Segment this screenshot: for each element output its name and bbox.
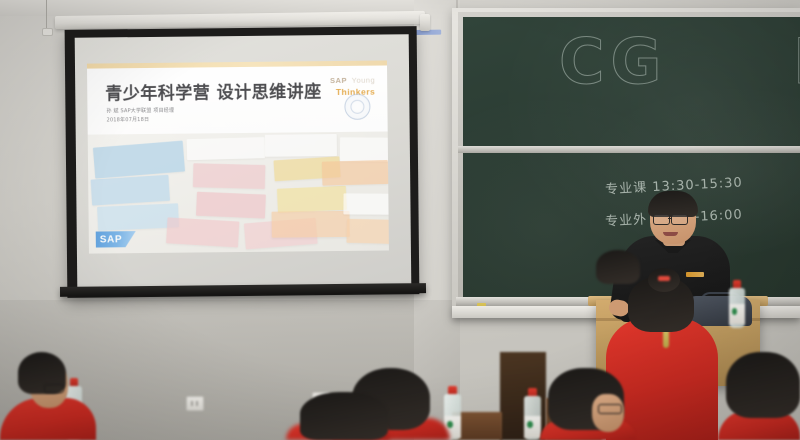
sticky-note bbox=[322, 159, 389, 185]
projector-screen: 青少年科学营 设计思维讲座 孙 斌 SAP大学联盟 项目经理 2018年07月1… bbox=[65, 26, 420, 298]
sap-logo-text: SAP bbox=[100, 234, 122, 245]
blackboard-partial-letter: L bbox=[793, 31, 800, 93]
student-glasses bbox=[598, 404, 622, 414]
sticky-note bbox=[187, 137, 266, 161]
bottle-label bbox=[524, 416, 541, 438]
blackboard-big-letters: CG bbox=[559, 31, 667, 93]
sticky-note bbox=[93, 140, 185, 178]
ceiling-wire bbox=[46, 0, 47, 30]
speaker-glasses-left bbox=[653, 214, 670, 225]
sticky-note bbox=[193, 163, 266, 189]
water-bottle-4 bbox=[729, 280, 745, 328]
water-bottle-3 bbox=[524, 388, 541, 440]
bottle-label-mark bbox=[732, 308, 737, 315]
speaker-glasses-right bbox=[671, 214, 688, 225]
wall-outlet-2-icon bbox=[186, 396, 204, 411]
blackboard-divider bbox=[458, 146, 800, 153]
sticky-note bbox=[340, 137, 389, 161]
screen-surface: 青少年科学营 设计思维讲座 孙 斌 SAP大学联盟 项目经理 2018年07月1… bbox=[75, 34, 412, 289]
sticky-note bbox=[277, 185, 347, 212]
sticky-note bbox=[91, 175, 170, 206]
sticky-note bbox=[166, 217, 239, 247]
wire-hook bbox=[42, 28, 53, 36]
sticky-note bbox=[196, 191, 266, 218]
slide-date: 2018年07月18日 bbox=[107, 116, 150, 123]
speaker-glasses-bridge bbox=[668, 218, 672, 219]
speaker-shirt-logo bbox=[686, 272, 704, 277]
sticky-note bbox=[265, 134, 337, 156]
yt-sap-text: SAP bbox=[330, 76, 347, 85]
student-hair bbox=[300, 392, 388, 440]
presentation-slide: 青少年科学营 设计思维讲座 孙 斌 SAP大学联盟 项目经理 2018年07月1… bbox=[87, 60, 389, 253]
roller-end-cap bbox=[420, 14, 430, 31]
classroom-photo: 青少年科学营 设计思维讲座 孙 斌 SAP大学联盟 项目经理 2018年07月1… bbox=[0, 0, 800, 440]
slide-presenter: 孙 斌 SAP大学联盟 项目经理 bbox=[106, 107, 174, 115]
student-hair bbox=[596, 250, 640, 284]
student-hair-tie bbox=[658, 276, 670, 281]
sticky-note bbox=[272, 210, 350, 237]
university-seal-icon bbox=[344, 94, 370, 120]
slide-title: 青少年科学营 设计思维讲座 bbox=[105, 77, 322, 104]
yt-young-text: Young bbox=[352, 76, 376, 85]
speaker-mouth bbox=[663, 232, 678, 236]
student-glasses bbox=[44, 384, 64, 393]
sticky-note bbox=[346, 219, 388, 244]
bottle-label bbox=[729, 304, 745, 324]
bottle-label-mark bbox=[447, 421, 453, 428]
sap-young-thinkers-logo: SAP Young Thinkers bbox=[330, 70, 375, 98]
bottle-label-mark bbox=[527, 421, 533, 428]
student-hair bbox=[726, 352, 800, 418]
sticky-note bbox=[343, 193, 389, 215]
